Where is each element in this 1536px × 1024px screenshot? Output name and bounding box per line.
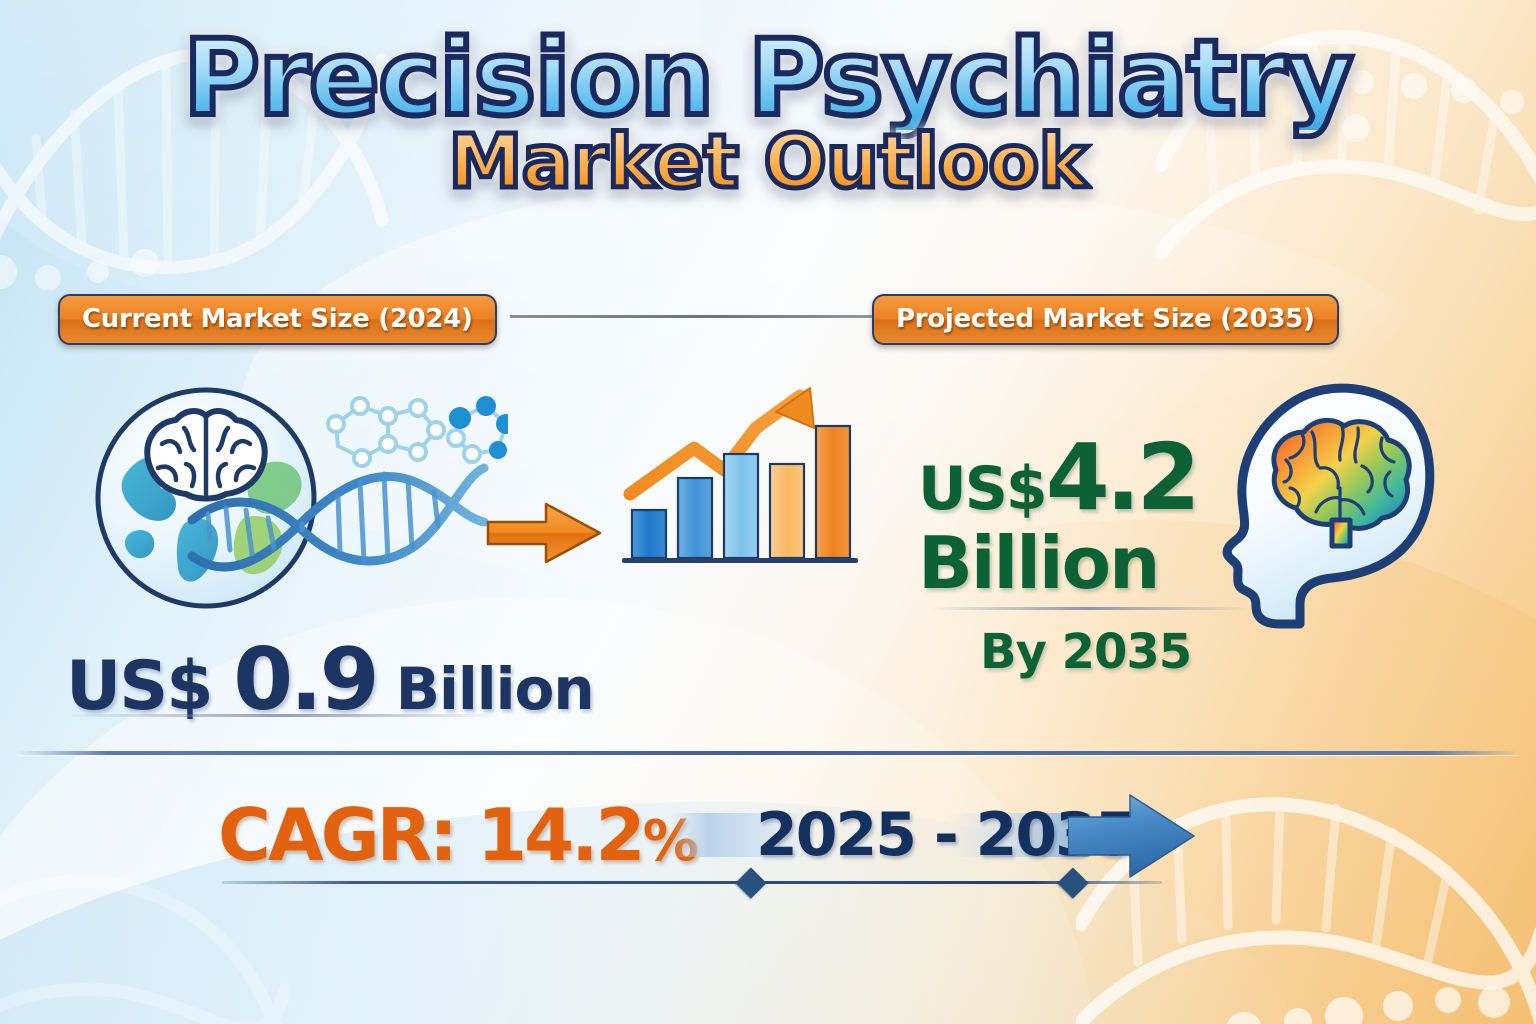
projected-unit: Billion — [918, 526, 1248, 602]
infographic-canvas: Precision Psychiatry Market Outlook Curr… — [0, 0, 1536, 1024]
badge-projected-market-size[interactable]: Projected Market Size (2035) — [872, 294, 1339, 345]
projected-currency: US$ — [918, 454, 1046, 524]
forecast-timeline — [222, 881, 1162, 884]
badge-current-market-size[interactable]: Current Market Size (2024) — [58, 294, 497, 345]
growth-bar-chart-icon — [604, 366, 872, 578]
timeline-marker-start — [735, 867, 766, 898]
title-block: Precision Psychiatry Market Outlook — [0, 26, 1536, 202]
projected-by-year: By 2035 — [980, 624, 1191, 680]
projected-market-value: US$4.2 Billion — [918, 432, 1248, 602]
head-brain-profile-icon — [1212, 372, 1468, 630]
badge-connector-line — [510, 315, 910, 318]
current-unit: Billion — [377, 655, 594, 723]
blue-right-arrow-icon — [1068, 793, 1196, 879]
projected-number: 4.2 — [1046, 424, 1197, 531]
page-title: Precision Psychiatry — [184, 26, 1353, 130]
cagr-label: CAGR: 14.2% — [218, 793, 696, 877]
page-subtitle: Market Outlook — [449, 124, 1088, 202]
globe-brain-dna-icon — [88, 372, 508, 622]
section-divider — [18, 751, 1518, 755]
orange-right-arrow-icon — [484, 497, 604, 569]
current-value-underline — [62, 714, 502, 717]
cagr-value-text: CAGR: 14.2 — [218, 793, 643, 877]
projected-line-1: US$4.2 — [918, 432, 1248, 524]
projected-value-underline — [930, 607, 1250, 610]
